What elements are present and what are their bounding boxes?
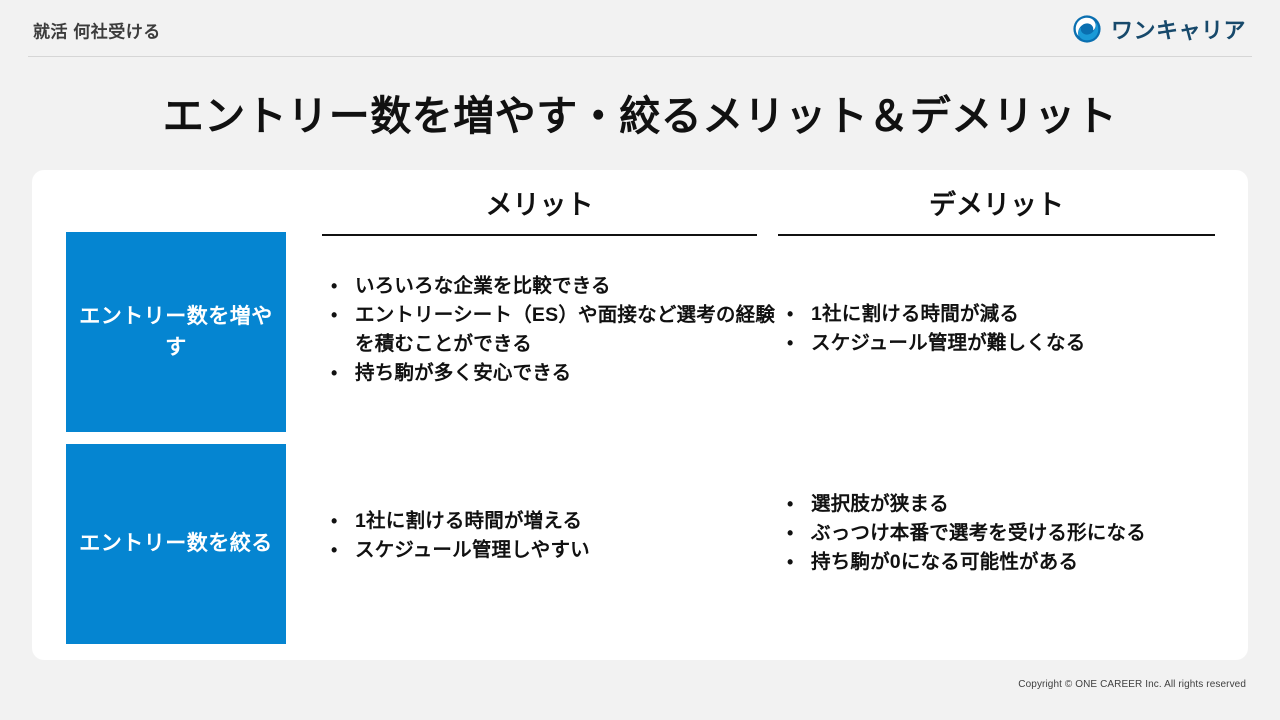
row-label-narrow-text: エントリー数を絞る bbox=[79, 528, 273, 560]
column-header-demerit: デメリット bbox=[778, 188, 1215, 236]
list-item: スケジュール管理しやすい bbox=[326, 536, 776, 565]
demerit-list-row-2: 選択肢が狭まる ぶっつけ本番で選考を受ける形になる 持ち駒が0になる可能性がある bbox=[782, 490, 1252, 577]
column-header-merit: メリット bbox=[322, 188, 757, 236]
brand-logo: ワンキャリア bbox=[1072, 13, 1246, 45]
brand-name: ワンキャリア bbox=[1111, 13, 1246, 45]
swirl-circle-logo-icon bbox=[1072, 14, 1102, 44]
content-card: メリット デメリット エントリー数を増やす いろいろな企業を比較できる エントリ… bbox=[32, 170, 1248, 660]
page-header: 就活 何社受ける ワンキャリア bbox=[0, 0, 1280, 58]
list-item: 持ち駒が0になる可能性がある bbox=[782, 548, 1252, 577]
table-row: エントリー数を増やす いろいろな企業を比較できる エントリーシート（ES）や面接… bbox=[32, 230, 1248, 440]
list-item: 持ち駒が多く安心できる bbox=[326, 359, 776, 388]
list-item: エントリーシート（ES）や面接など選考の経験を積むことができる bbox=[326, 301, 776, 359]
list-item: 選択肢が狭まる bbox=[782, 490, 1252, 519]
row-label-narrow: エントリー数を絞る bbox=[66, 444, 286, 644]
list-item: ぶっつけ本番で選考を受ける形になる bbox=[782, 519, 1252, 548]
list-item: 1社に割ける時間が減る bbox=[782, 300, 1252, 329]
list-item: いろいろな企業を比較できる bbox=[326, 272, 776, 301]
list-item: スケジュール管理が難しくなる bbox=[782, 329, 1252, 358]
merit-list-row-2: 1社に割ける時間が増える スケジュール管理しやすい bbox=[326, 507, 776, 565]
slide-title: エントリー数を増やす・絞るメリット＆デメリット bbox=[0, 82, 1280, 142]
demerit-list-row-1: 1社に割ける時間が減る スケジュール管理が難しくなる bbox=[782, 300, 1252, 358]
column-header-demerit-label: デメリット bbox=[778, 188, 1215, 222]
row-label-increase: エントリー数を増やす bbox=[66, 232, 286, 432]
copyright-notice: Copyright © ONE CAREER Inc. All rights r… bbox=[1018, 679, 1246, 690]
column-header-merit-label: メリット bbox=[322, 188, 757, 222]
table-row: エントリー数を絞る 1社に割ける時間が増える スケジュール管理しやすい 選択肢が… bbox=[32, 442, 1248, 644]
list-item: 1社に割ける時間が増える bbox=[326, 507, 776, 536]
header-title: 就活 何社受ける bbox=[33, 18, 161, 43]
row-label-increase-text: エントリー数を増やす bbox=[76, 301, 276, 364]
merit-list-row-1: いろいろな企業を比較できる エントリーシート（ES）や面接など選考の経験を積むこ… bbox=[326, 272, 776, 388]
header-divider bbox=[28, 56, 1252, 57]
